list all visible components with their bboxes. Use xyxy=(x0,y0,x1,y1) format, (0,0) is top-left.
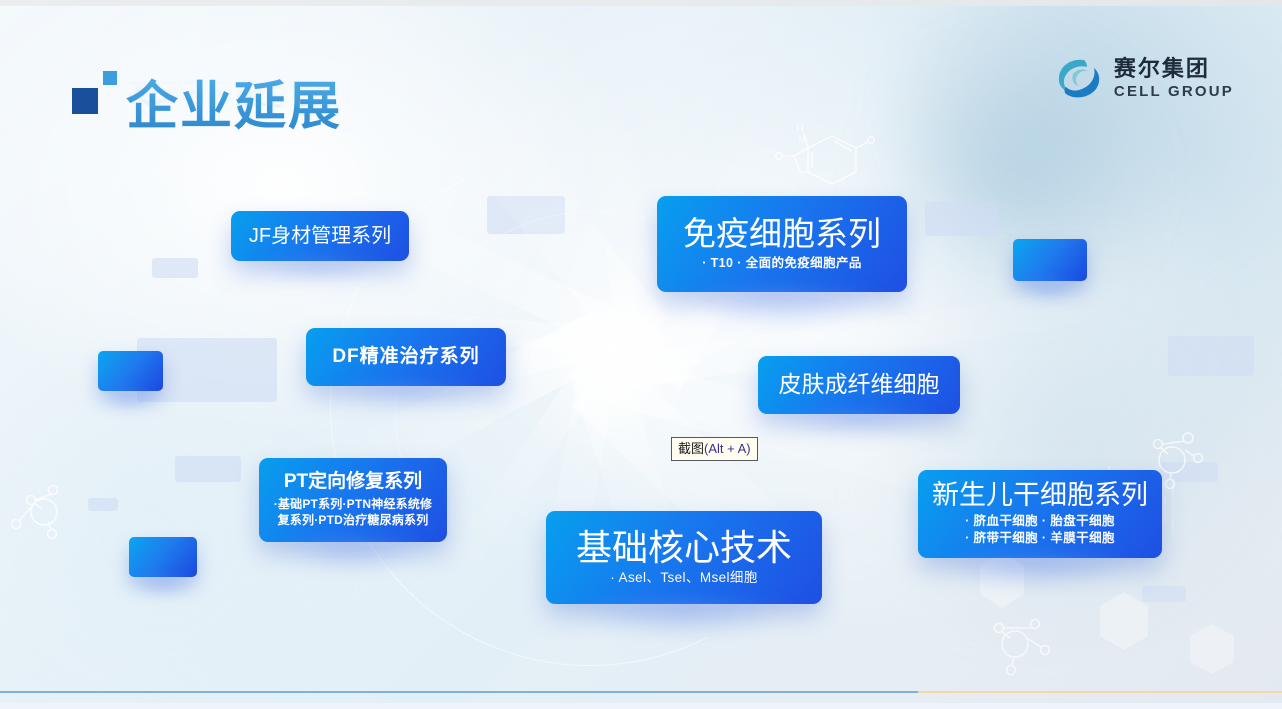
card-subtitle-line2: · 脐带干细胞 · 羊膜干细胞 xyxy=(965,530,1115,547)
card-neonatal-stem-cell-series[interactable]: 新生儿干细胞系列 · 脐血干细胞 · 胎盘干细胞 · 脐带干细胞 · 羊膜干细胞 xyxy=(918,470,1162,558)
slide-progress-track[interactable] xyxy=(0,691,1282,693)
brand-text: 赛尔集团 CELL GROUP xyxy=(1114,58,1234,99)
card-title: 皮肤成纤维细胞 xyxy=(779,372,940,397)
molecule-art-right-lower xyxy=(975,606,1065,686)
card-title: 新生儿干细胞系列 xyxy=(932,481,1148,511)
slide-progress-fill xyxy=(0,691,918,693)
card-title: DF精准治疗系列 xyxy=(332,347,479,368)
decor-mini-card-left-1 xyxy=(98,351,163,391)
molecule-art-left xyxy=(6,472,86,552)
title-marker-small-icon xyxy=(103,71,117,85)
cell-swoosh-logo-icon xyxy=(1053,54,1105,102)
decor-rect-2 xyxy=(152,258,198,278)
svg-text:N: N xyxy=(798,134,805,144)
card-subtitle-line1: ·基础PT系列·PTN神经系统修 xyxy=(274,496,433,512)
card-subtitle-line2: 复系列·PTD治疗糖尿病系列 xyxy=(278,512,429,528)
card-skin-fibroblast[interactable]: 皮肤成纤维细胞 xyxy=(758,356,960,414)
slide-canvas: H N xyxy=(0,0,1282,709)
card-immune-cell-series[interactable]: 免疫细胞系列 · T10 · 全面的免疫细胞产品 xyxy=(657,196,907,292)
brand-name-en: CELL GROUP xyxy=(1114,84,1234,99)
decor-mini-card-left-2 xyxy=(129,537,197,577)
title-marker-large-icon xyxy=(72,88,98,114)
brand-name-cn: 赛尔集团 xyxy=(1114,58,1234,80)
card-subtitle-line1: · Asel、Tsel、Msel细胞 xyxy=(610,569,757,587)
card-title: 基础核心技术 xyxy=(576,528,792,568)
brand-logo: 赛尔集团 CELL GROUP xyxy=(1053,54,1234,102)
card-title: JF身材管理系列 xyxy=(249,225,391,247)
hexagon-decor-group xyxy=(940,546,1270,703)
card-title: PT定向修复系列 xyxy=(284,472,422,493)
card-df-precision-therapy[interactable]: DF精准治疗系列 xyxy=(306,328,506,386)
tooltip-shortcut: (Alt + A) xyxy=(704,441,751,456)
slide-background: H N xyxy=(0,6,1282,703)
screenshot-shortcut-tooltip: 截图(Alt + A) xyxy=(671,437,758,461)
card-jf-body-management[interactable]: JF身材管理系列 xyxy=(231,211,409,261)
molecule-art-chemical-structure: H N xyxy=(760,116,890,196)
decor-rect-5 xyxy=(88,498,118,511)
decor-rect-1 xyxy=(487,196,565,234)
decor-rect-8 xyxy=(1160,462,1218,482)
card-pt-directed-repair[interactable]: PT定向修复系列 ·基础PT系列·PTN神经系统修 复系列·PTD治疗糖尿病系列 xyxy=(259,458,447,542)
background-photo-blur-3 xyxy=(842,256,1282,636)
decor-rect-4 xyxy=(175,456,241,482)
decor-mini-card-right-1 xyxy=(1013,239,1087,281)
center-glow xyxy=(545,280,695,430)
svg-text:H: H xyxy=(796,123,804,135)
card-core-technology[interactable]: 基础核心技术 · Asel、Tsel、Msel细胞 xyxy=(546,511,822,604)
window-top-strip xyxy=(0,0,1282,6)
decor-rect-7 xyxy=(1168,336,1254,376)
page-title-reflection: 企业延展 xyxy=(126,75,342,116)
card-title: 免疫细胞系列 xyxy=(683,216,881,252)
card-subtitle-line1: · T10 · 全面的免疫细胞产品 xyxy=(702,255,862,272)
decor-rect-9 xyxy=(1142,586,1186,602)
tooltip-label: 截图 xyxy=(678,441,704,456)
card-subtitle-line1: · 脐血干细胞 · 胎盘干细胞 xyxy=(965,513,1115,530)
decor-rect-6 xyxy=(925,202,997,236)
